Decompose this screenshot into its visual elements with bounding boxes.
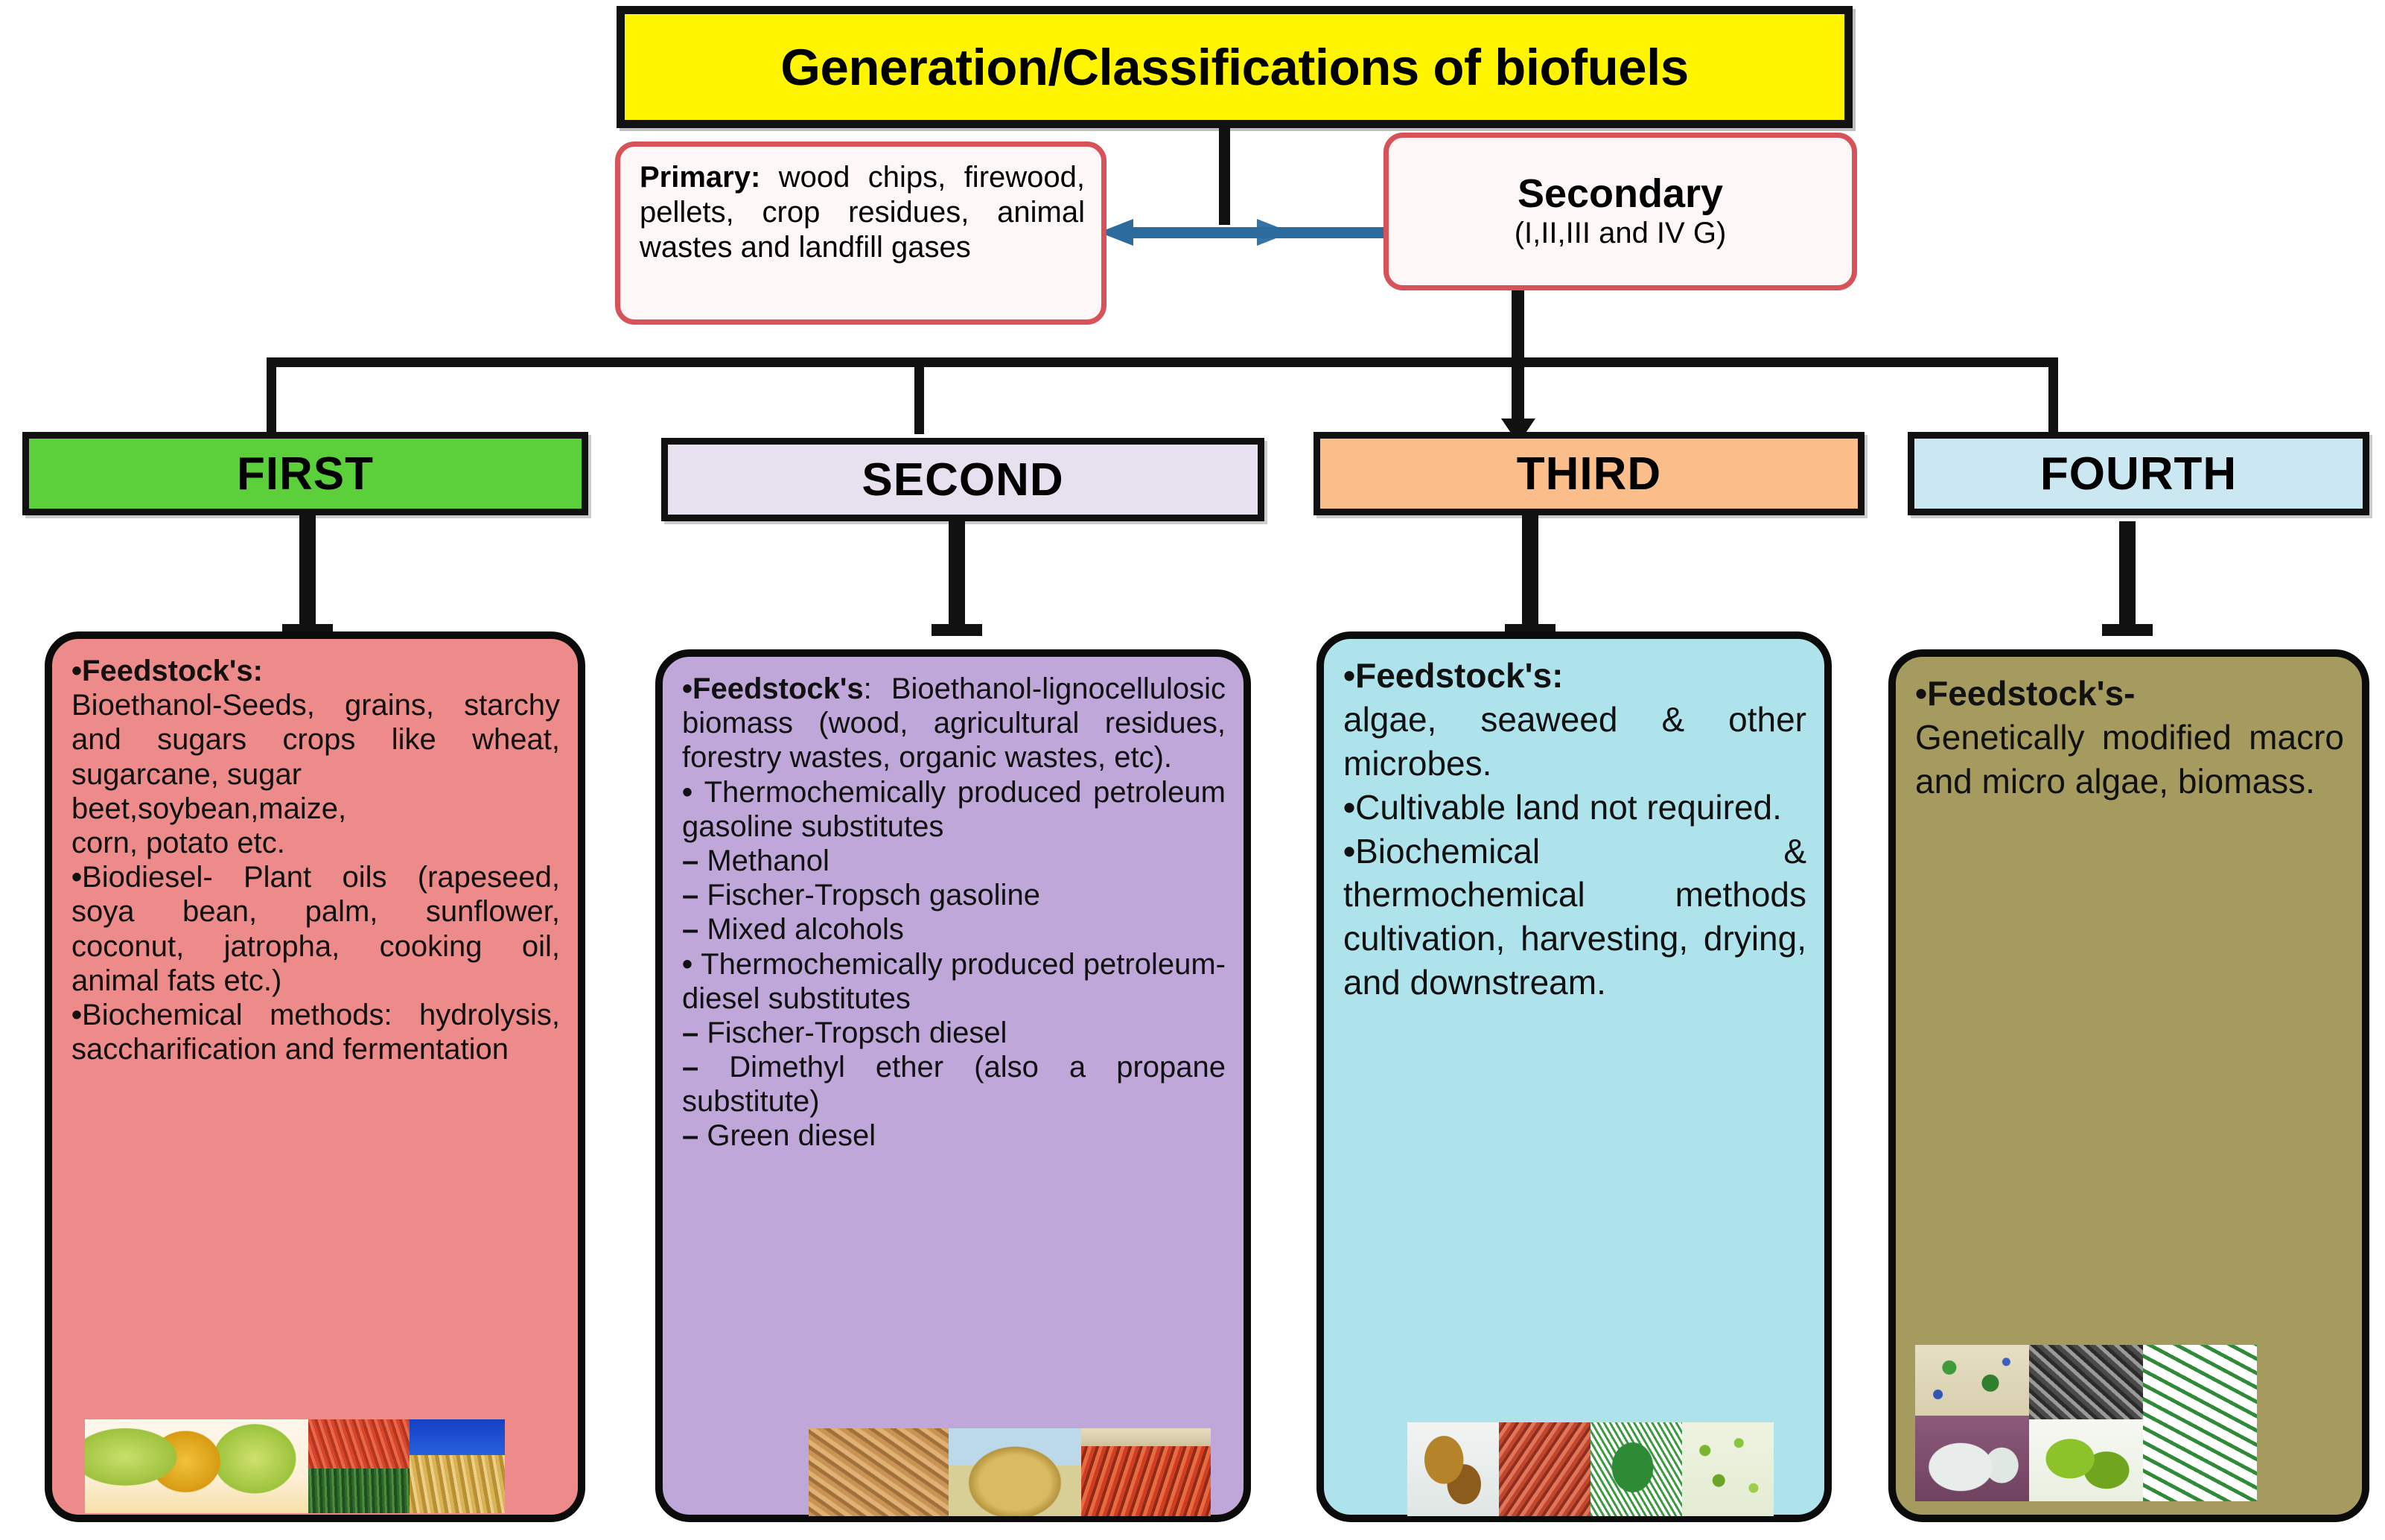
- body-line: •Feedstock's: Bioethanol-lignocellulosic…: [682, 672, 1226, 775]
- photo-strip-fourth: [1915, 1345, 2258, 1501]
- generation-third-body: •Feedstock's:algae, seaweed & other micr…: [1343, 654, 1806, 1005]
- connector-stem-fourth: [2119, 521, 2136, 631]
- generation-card-third: •Feedstock's:algae, seaweed & other micr…: [1316, 631, 1832, 1522]
- body-line: Bioethanol-Seeds, grains, starchy and su…: [71, 688, 560, 792]
- body-line-text: Thermochemically produced petroleum-dies…: [682, 948, 1226, 1015]
- photo-red-algae: [1499, 1422, 1590, 1516]
- generation-second-body: •Feedstock's: Bioethanol-lignocellulosic…: [682, 672, 1226, 1154]
- body-line-label: Feedstock's:: [82, 655, 263, 687]
- body-line: •Feedstock's-: [1915, 672, 2344, 716]
- generation-header-second: SECOND: [661, 438, 1264, 521]
- bullet-icon: •: [682, 948, 701, 981]
- body-line-text: corn, potato etc.: [71, 827, 285, 859]
- connector-stem-second: [949, 521, 965, 631]
- body-line: •Biochemical methods: hydrolysis, saccha…: [71, 998, 560, 1066]
- bullet-icon: •: [682, 672, 692, 705]
- photo-strip-second: [809, 1428, 1211, 1516]
- body-line: •Biochemical & thermochemical methods cu…: [1343, 830, 1806, 1005]
- body-line-text: Fischer-Tropsch diesel: [707, 1016, 1007, 1049]
- connector-cap-fourth: [2102, 624, 2153, 636]
- connector-drop-first: [267, 357, 276, 434]
- page-title: Generation/Classifications of biofuels: [780, 38, 1688, 97]
- connector-stem-third: [1522, 515, 1538, 631]
- generation-header-fourth: FOURTH: [1908, 432, 2369, 515]
- generation-card-first: •Feedstock's:Bioethanol-Seeds, grains, s…: [45, 631, 585, 1522]
- body-line-label: Feedstock's: [692, 672, 864, 705]
- bullet-icon: –: [682, 879, 707, 911]
- body-line-text: Biochemical methods: hydrolysis, sacchar…: [71, 999, 560, 1066]
- body-line: – Mixed alcohols: [682, 912, 1226, 946]
- photo-strip-first: [85, 1419, 567, 1513]
- connector-title-stem: [1219, 128, 1230, 225]
- bullet-icon: •: [71, 861, 82, 894]
- secondary-title: Secondary: [1518, 174, 1723, 214]
- generation-header-third: THIRD: [1313, 432, 1865, 515]
- body-line-text: Biodiesel- Plant oils (rapeseed, soya be…: [71, 861, 560, 997]
- bullet-icon: •: [1343, 832, 1355, 871]
- generation-header-first-label: FIRST: [237, 448, 374, 500]
- body-line-text: Fischer-Tropsch gasoline: [707, 879, 1040, 911]
- bullet-icon: •: [682, 776, 704, 809]
- connector-stem-first: [299, 515, 316, 631]
- body-line-text: Methanol: [707, 844, 830, 877]
- body-line-text: Green diesel: [707, 1119, 876, 1152]
- connector-drop-second: [914, 365, 924, 434]
- body-line-label: Feedstock's:: [1355, 656, 1563, 695]
- photo-algae-cell-collage: [1915, 1345, 2029, 1501]
- photo-green-seaweed: [1590, 1422, 1682, 1516]
- body-line-text: Biochemical & thermochemical methods cul…: [1343, 832, 1806, 1002]
- body-line: – Methanol: [682, 844, 1226, 878]
- body-line-text: Mixed alcohols: [707, 913, 904, 946]
- generation-fourth-body: •Feedstock's-Genetically modified macro …: [1915, 672, 2344, 804]
- connector-drop-fourth: [2048, 365, 2058, 434]
- body-line: – Green diesel: [682, 1119, 1226, 1153]
- generation-header-first: FIRST: [22, 432, 588, 515]
- body-line: corn, potato etc.: [71, 826, 560, 860]
- body-line-text: algae, seaweed & other microbes.: [1343, 700, 1806, 783]
- body-line: Genetically modified macro and micro alg…: [1915, 716, 2344, 804]
- body-line: beet,soybean,maize,: [71, 792, 560, 826]
- bullet-icon: •: [1343, 656, 1355, 695]
- bullet-icon: •: [1343, 788, 1355, 827]
- body-line: •Feedstock's:: [1343, 654, 1806, 698]
- body-line: • Thermochemically produced petroleum-di…: [682, 947, 1226, 1016]
- body-line-text: Cultivable land not required.: [1355, 788, 1782, 827]
- body-line-label: Feedstock's-: [1927, 674, 2135, 713]
- photo-electron-micrograph: [2029, 1345, 2143, 1501]
- body-line: • Thermochemically produced petroleum ga…: [682, 775, 1226, 844]
- body-line-text: Bioethanol-Seeds, grains, starchy and su…: [71, 689, 560, 790]
- photo-dna-helix: [2143, 1345, 2257, 1501]
- body-line: – Fischer-Tropsch diesel: [682, 1016, 1226, 1050]
- bullet-icon: –: [682, 913, 707, 946]
- photo-brown-seaweed: [1407, 1422, 1499, 1516]
- photo-hay-bale: [949, 1428, 1081, 1516]
- body-line: •Feedstock's:: [71, 654, 560, 688]
- secondary-subtitle: (I,II,III and IV G): [1515, 217, 1727, 249]
- photo-corn-oil-and-maize: [85, 1419, 308, 1513]
- body-line: •Biodiesel- Plant oils (rapeseed, soya b…: [71, 860, 560, 998]
- bullet-icon: –: [682, 1016, 707, 1049]
- body-line: – Fischer-Tropsch gasoline: [682, 878, 1226, 912]
- body-line-text: Genetically modified macro and micro alg…: [1915, 718, 2344, 801]
- generation-header-fourth-label: FOURTH: [2040, 448, 2237, 500]
- body-line-text: Dimethyl ether (also a propane substitut…: [682, 1051, 1226, 1118]
- primary-label: Primary:: [640, 161, 760, 194]
- primary-biofuels-text: Primary: wood chips, firewood, pellets, …: [640, 160, 1085, 264]
- photo-red-grain-green-grass: [308, 1419, 410, 1513]
- bullet-icon: –: [682, 1051, 729, 1084]
- body-line-text: Thermochemically produced petroleum gaso…: [682, 776, 1226, 843]
- double-headed-arrow-icon: [1099, 217, 1393, 247]
- primary-biofuels-box: Primary: wood chips, firewood, pellets, …: [615, 141, 1106, 325]
- bullet-icon: –: [682, 1119, 707, 1152]
- body-line-text: beet,soybean,maize,: [71, 792, 346, 825]
- secondary-biofuels-box: Secondary (I,II,III and IV G): [1383, 133, 1857, 290]
- diagram-title-box: Generation/Classifications of biofuels: [617, 6, 1853, 128]
- generation-card-second: •Feedstock's: Bioethanol-lignocellulosic…: [655, 649, 1251, 1522]
- photo-red-crop-residue: [1081, 1428, 1211, 1516]
- connector-cap-second: [932, 624, 982, 636]
- photo-wheat-field-blue-sky: [410, 1419, 505, 1513]
- photo-wood-chips: [809, 1428, 949, 1516]
- body-line: algae, seaweed & other microbes.: [1343, 698, 1806, 786]
- generation-first-body: •Feedstock's:Bioethanol-Seeds, grains, s…: [71, 654, 560, 1066]
- photo-strip-third: [1407, 1422, 1774, 1516]
- generation-header-second-label: SECOND: [862, 454, 1063, 506]
- bullet-icon: –: [682, 844, 707, 877]
- bullet-icon: •: [71, 655, 82, 687]
- connector-horizontal-bus: [267, 357, 2058, 367]
- body-line: – Dimethyl ether (also a propane substit…: [682, 1050, 1226, 1119]
- generation-header-third-label: THIRD: [1517, 448, 1661, 500]
- photo-green-microalgae: [1682, 1422, 1774, 1516]
- body-line: •Cultivable land not required.: [1343, 786, 1806, 830]
- bullet-icon: •: [1915, 674, 1927, 713]
- bullet-icon: •: [71, 999, 82, 1031]
